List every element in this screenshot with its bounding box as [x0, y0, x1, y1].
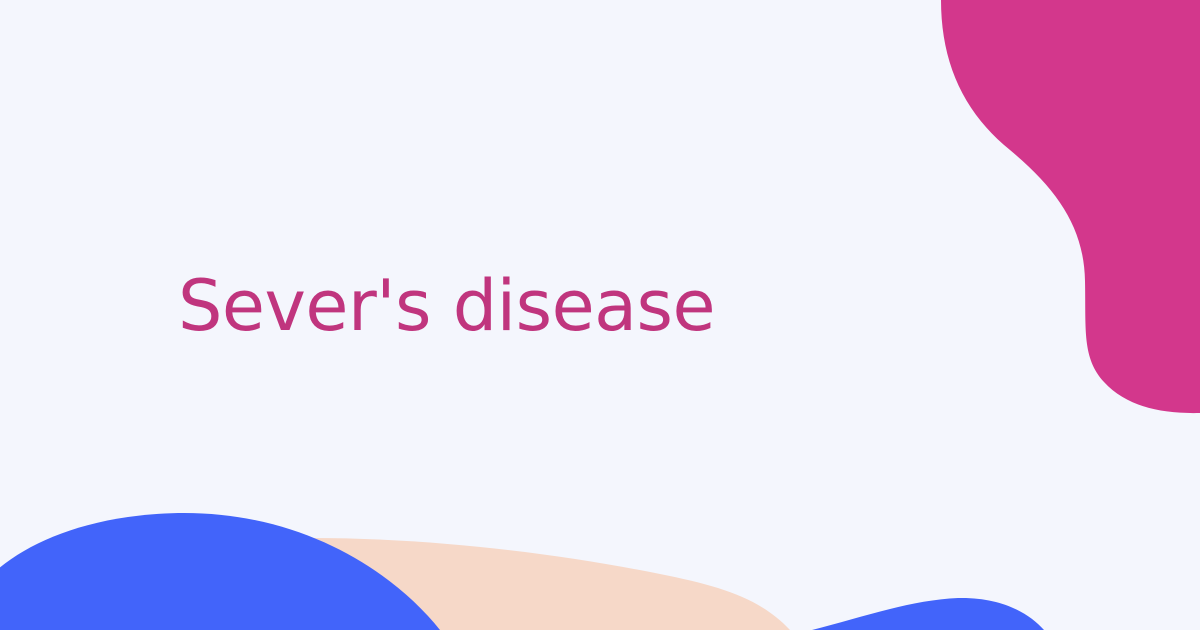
page-title: Sever's disease [178, 267, 715, 345]
social-share-card: Sever's disease [0, 0, 1200, 630]
title-container: Sever's disease [0, 0, 1200, 630]
